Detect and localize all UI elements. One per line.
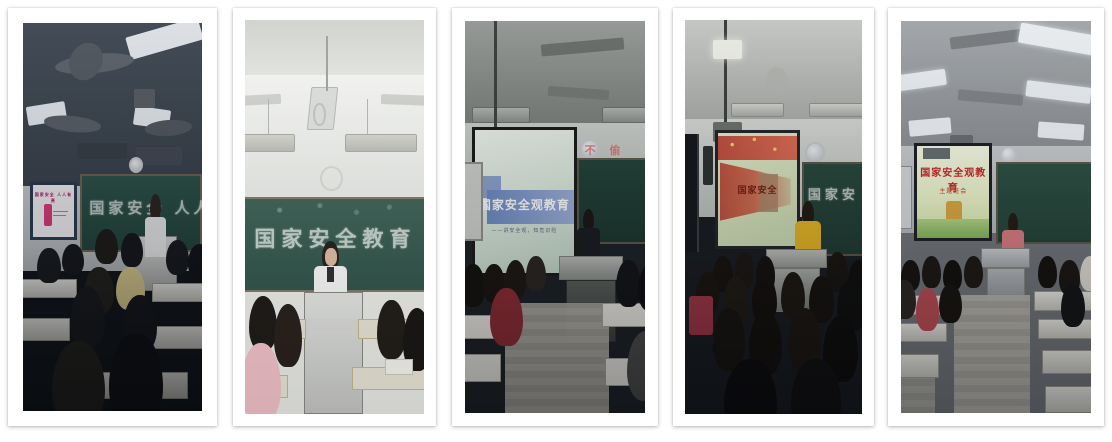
slide-title: 国家安全观教育 <box>475 196 573 213</box>
ceiling <box>245 20 424 75</box>
ceiling-light-tube <box>602 107 645 123</box>
speaker-head <box>150 194 161 220</box>
wall-notice-board <box>465 162 483 240</box>
slide-subtitle: 主题班会 <box>917 186 989 195</box>
wall-clock <box>129 157 143 173</box>
student-head <box>916 288 939 331</box>
ceiling-fan <box>381 94 424 106</box>
slide-ground <box>917 219 989 237</box>
projection-screen: 国家安全 人人有责 <box>30 182 77 240</box>
lectern <box>304 292 363 414</box>
slide-title: 国家安全 人人有责 <box>33 192 74 204</box>
paper-stack <box>385 359 414 375</box>
student-desk <box>23 318 70 341</box>
lamp-rod <box>724 20 727 126</box>
speaker-face <box>325 248 337 266</box>
blackboard-text: 不 偷 <box>585 142 626 158</box>
wall-notice-board <box>901 166 912 229</box>
student-desk <box>1042 350 1091 374</box>
student-desk <box>602 303 645 327</box>
photo-card-3[interactable]: 国家安全观教育 ——讲安全观，知危识险 不 偷 <box>452 8 658 426</box>
photo-card-2[interactable]: 国家安全教育 <box>233 8 436 426</box>
student-head <box>166 240 189 275</box>
student-desk <box>152 283 202 302</box>
student-head <box>62 244 83 275</box>
floor-aisle <box>954 295 1030 413</box>
classroom-photo-2: 国家安全教育 <box>245 20 424 414</box>
classroom-photo-4: 国家安全 国家安 <box>685 20 862 414</box>
student-head <box>121 233 142 268</box>
slide-logo <box>44 204 52 226</box>
student-bag-red <box>689 296 714 335</box>
student-desk <box>1045 386 1091 413</box>
slide-rule <box>53 211 68 212</box>
student-head <box>627 331 645 402</box>
classroom-door <box>685 134 699 252</box>
hanger-wire <box>367 99 368 134</box>
student-head <box>922 256 941 287</box>
ceiling-light-tube <box>245 134 295 152</box>
lectern <box>559 256 624 280</box>
photo-gallery: 国家安全 人人有责 国家安全 人人有责 <box>0 0 1112 442</box>
slide-building-graphic <box>946 201 962 219</box>
speaker-collar <box>327 267 334 282</box>
classroom-photo-3: 国家安全观教育 ——讲安全观，知危识险 不 偷 <box>465 21 645 413</box>
slide-rule <box>53 215 65 216</box>
student-head <box>95 229 118 264</box>
hanger-wire <box>268 99 269 134</box>
ceiling-light-tube <box>731 103 784 117</box>
lectern-shelf <box>304 319 363 331</box>
projector-lens <box>313 103 326 127</box>
projection-screen: 国家安全观教育 ——讲安全观，知危识险 <box>472 127 576 276</box>
projector-rod <box>326 36 328 91</box>
student-head <box>1038 256 1057 287</box>
speaker <box>143 194 168 256</box>
student-desk <box>465 354 501 381</box>
student-head <box>37 248 60 283</box>
projector-rod <box>494 21 497 139</box>
student-head <box>274 304 303 367</box>
student-head-red-hoodie <box>490 288 522 347</box>
classroom-photo-1: 国家安全 人人有责 国家安全 人人有责 <box>23 23 202 411</box>
student-head <box>526 256 546 291</box>
blackboard-text: 国家安 <box>808 184 859 203</box>
student-desk <box>901 354 939 378</box>
lectern <box>981 248 1030 268</box>
pendant-lamp <box>713 40 741 60</box>
projection-screen: 国家安全观教育 主题班会 <box>914 143 992 241</box>
chalk-dust <box>245 199 424 235</box>
slide-sparkles <box>718 133 797 162</box>
wall-panel <box>77 143 127 159</box>
ceiling-light-tube <box>809 103 862 117</box>
wall-clock <box>805 142 824 164</box>
ceiling-light-tube <box>345 134 417 152</box>
student-head <box>939 284 962 323</box>
slide-header-strip <box>923 148 950 159</box>
classroom-photo-5: 国家安全观教育 主题班会 <box>901 21 1091 413</box>
ceiling-fan <box>766 67 787 95</box>
speaker-body <box>145 217 166 257</box>
slide-subtitle: ——讲安全观，知危识险 <box>475 227 573 234</box>
student-head <box>52 341 106 411</box>
projection-screen: 国家安全 <box>715 130 800 248</box>
projector <box>134 89 155 108</box>
student-head <box>377 300 406 359</box>
slide-title: 国家安全 <box>718 183 797 196</box>
ceiling-light-tube <box>1037 121 1084 140</box>
photo-card-5[interactable]: 国家安全观教育 主题班会 <box>888 8 1104 426</box>
student-head <box>964 256 983 287</box>
ceiling-light-tube <box>472 107 530 123</box>
wall-speaker <box>703 146 714 185</box>
student-head <box>1080 256 1091 291</box>
photo-card-4[interactable]: 国家安全 国家安 <box>673 8 874 426</box>
student-head <box>1061 284 1086 327</box>
lectern <box>766 249 826 269</box>
photo-card-1[interactable]: 国家安全 人人有责 国家安全 人人有责 <box>8 8 217 426</box>
